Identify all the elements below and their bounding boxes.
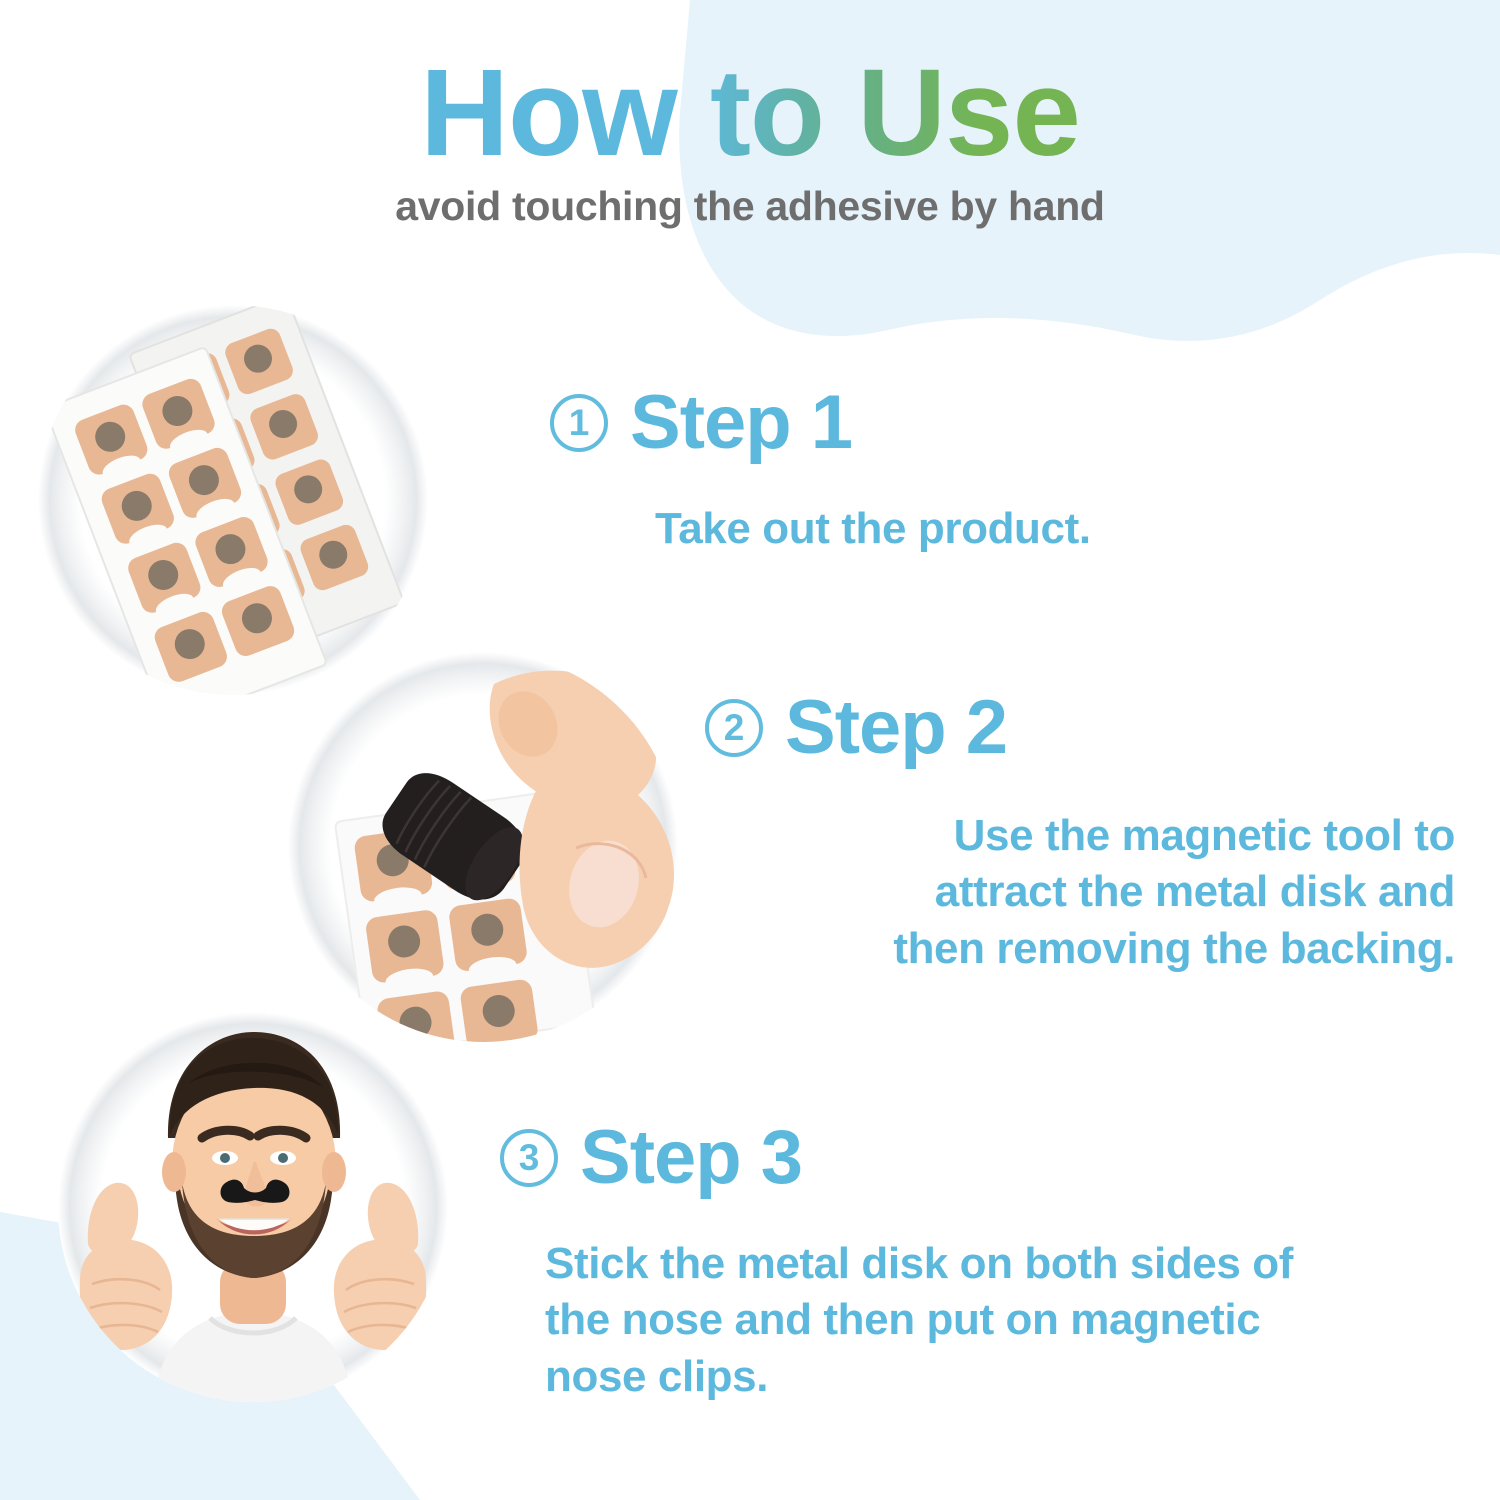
step-1-block: 1 Step 1 Take out the product. bbox=[545, 385, 1445, 557]
magnetic-tool-photo bbox=[288, 652, 678, 1042]
step-2-block: 2 Step 2 Use the magnetic tool to attrac… bbox=[545, 690, 1460, 977]
step-2-title: Step 2 bbox=[785, 690, 1007, 766]
step-1-image bbox=[38, 305, 428, 695]
page-subtitle: avoid touching the adhesive by hand bbox=[395, 183, 1104, 230]
step-3-line-2: the nose and then put on magnetic bbox=[545, 1292, 1465, 1348]
step-3-line-1: Stick the metal disk on both sides of bbox=[545, 1236, 1465, 1292]
step-3-heading: 3 Step 3 bbox=[490, 1120, 1465, 1196]
header: How to Use avoid touching the adhesive b… bbox=[0, 0, 1500, 260]
step-3-line-3: nose clips. bbox=[545, 1349, 1465, 1405]
man-wearing-nose-clip-photo bbox=[58, 1012, 448, 1402]
step-2-image bbox=[288, 652, 678, 1042]
step-1-title: Step 1 bbox=[630, 385, 852, 461]
step-3-title: Step 3 bbox=[580, 1120, 802, 1196]
step-2-number-badge: 2 bbox=[705, 699, 763, 757]
step-2-description: Use the magnetic tool to attract the met… bbox=[545, 808, 1460, 977]
step-1-heading: 1 Step 1 bbox=[545, 385, 1445, 461]
patch-sheets-photo bbox=[38, 305, 428, 695]
step-3-description: Stick the metal disk on both sides of th… bbox=[490, 1236, 1465, 1405]
step-2-line-2: attract the metal disk and bbox=[545, 864, 1455, 920]
step-2-line-1: Use the magnetic tool to bbox=[545, 808, 1455, 864]
page-title: How to Use bbox=[420, 52, 1080, 175]
step-3-image bbox=[58, 1012, 448, 1402]
step-1-number-badge: 1 bbox=[550, 394, 608, 452]
step-3-number-badge: 3 bbox=[500, 1129, 558, 1187]
step-1-description: Take out the product. bbox=[545, 501, 1445, 557]
step-2-line-3: then removing the backing. bbox=[545, 921, 1455, 977]
step-2-heading: 2 Step 2 bbox=[545, 690, 1460, 766]
step-3-block: 3 Step 3 Stick the metal disk on both si… bbox=[490, 1120, 1465, 1405]
